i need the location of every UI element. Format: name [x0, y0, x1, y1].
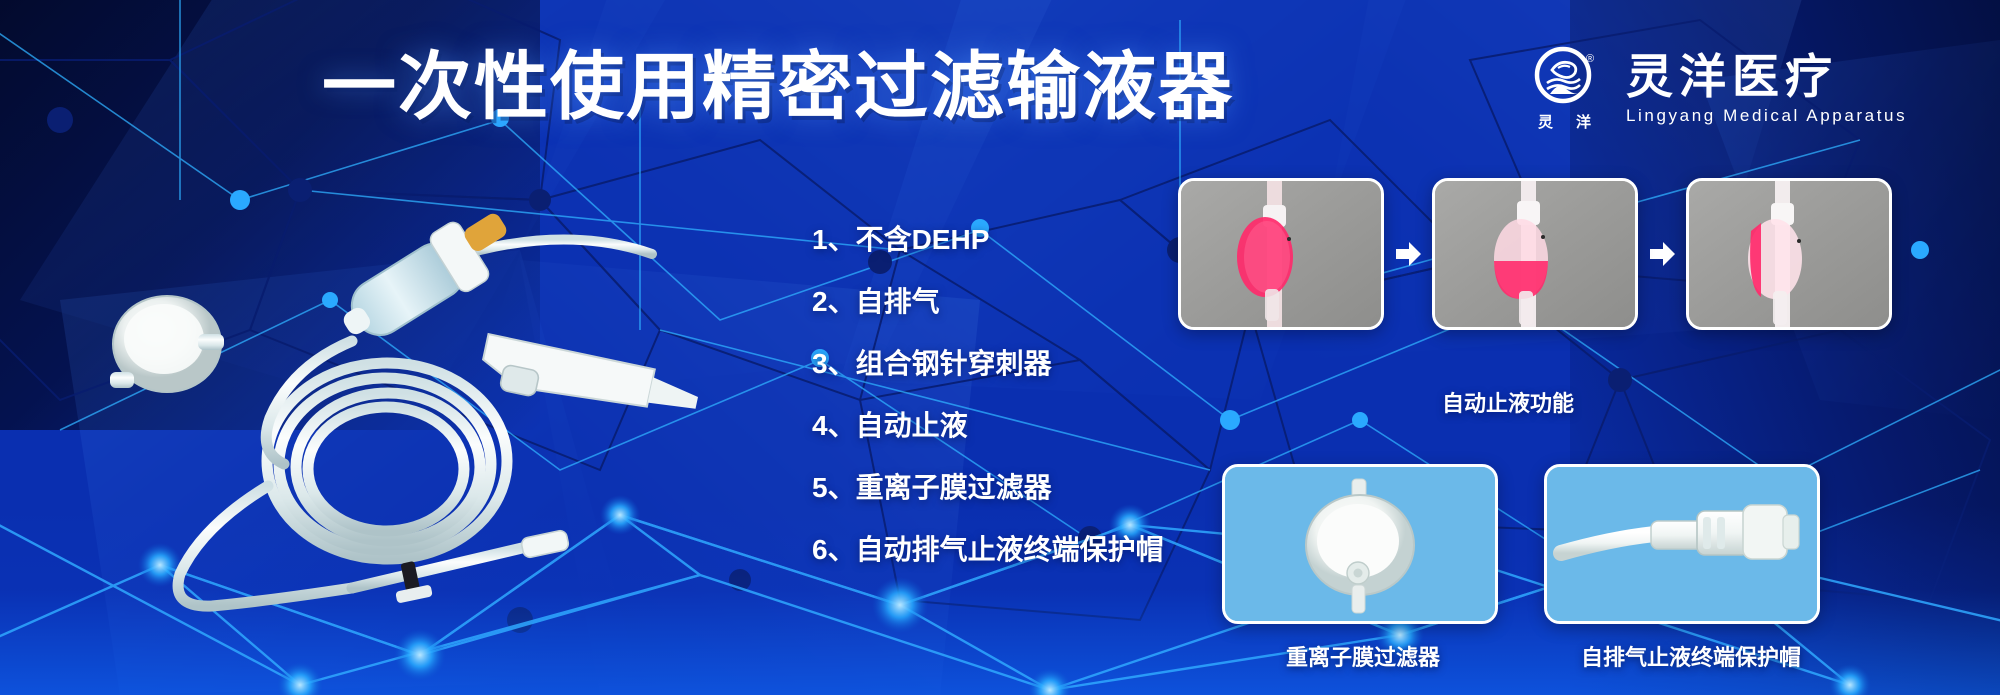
feature-list: 1、不含DEHP 2、自排气 3、组合钢针穿刺器 4、自动止液 5、重离子膜过滤… — [812, 222, 1164, 568]
auto-stop-caption: 自动止液功能 — [1178, 386, 1838, 418]
feature-item-6: 6、自动排气止液终端保护帽 — [812, 532, 1164, 568]
detail-caption-protective-cap: 自排气止液终端保护帽 — [1550, 640, 1832, 672]
detail-caption-row: 重离子膜过滤器 自排气止液终端保护帽 — [1222, 640, 1832, 672]
company-seal-icon: ® — [1534, 46, 1596, 108]
needle-cap — [520, 529, 569, 558]
product-banner: 一次性使用精密过滤输液器 ® 灵 洋 灵洋医疗 Ling — [0, 0, 2000, 695]
roller-clamp — [478, 334, 702, 430]
drip-chamber — [329, 199, 524, 356]
sequence-photo-2 — [1432, 178, 1638, 330]
emblem-char-yang: 洋 — [1576, 111, 1592, 132]
sequence-photo-1 — [1178, 178, 1384, 330]
emblem-subtitle: 灵 洋 — [1538, 111, 1592, 132]
brand-name-block: 灵洋医疗 Lingyang Medical Apparatus — [1626, 51, 1907, 127]
feature-item-4: 4、自动止液 — [812, 408, 1164, 444]
auto-stop-photo-sequence — [1178, 178, 1892, 330]
product-photo — [52, 196, 712, 616]
sequence-arrow-2 — [1648, 239, 1676, 269]
page-title: 一次性使用精密过滤输液器 — [322, 44, 1234, 130]
brand-logo: ® 灵 洋 灵洋医疗 Lingyang Medical Apparatus — [1520, 46, 1907, 132]
brand-emblem: ® 灵 洋 — [1520, 46, 1610, 132]
feature-item-5: 5、重离子膜过滤器 — [812, 470, 1164, 506]
feature-item-3: 3、组合钢针穿刺器 — [812, 346, 1164, 382]
brand-name-cn: 灵洋医疗 — [1626, 51, 1907, 103]
feature-item-2: 2、自排气 — [812, 284, 1164, 320]
feature-item-1: 1、不含DEHP — [812, 222, 1164, 258]
detail-panel-row — [1222, 464, 1820, 624]
sequence-photo-3 — [1686, 178, 1892, 330]
filter-device — [110, 296, 224, 392]
brand-name-en: Lingyang Medical Apparatus — [1626, 105, 1907, 127]
registered-mark-icon: ® — [1586, 53, 1594, 65]
emblem-char-ling: 灵 — [1538, 111, 1554, 132]
detail-photo-protective-cap — [1544, 464, 1820, 624]
detail-photo-filter — [1222, 464, 1498, 624]
sequence-arrow-1 — [1394, 239, 1422, 269]
detail-caption-filter: 重离子膜过滤器 — [1222, 640, 1504, 672]
